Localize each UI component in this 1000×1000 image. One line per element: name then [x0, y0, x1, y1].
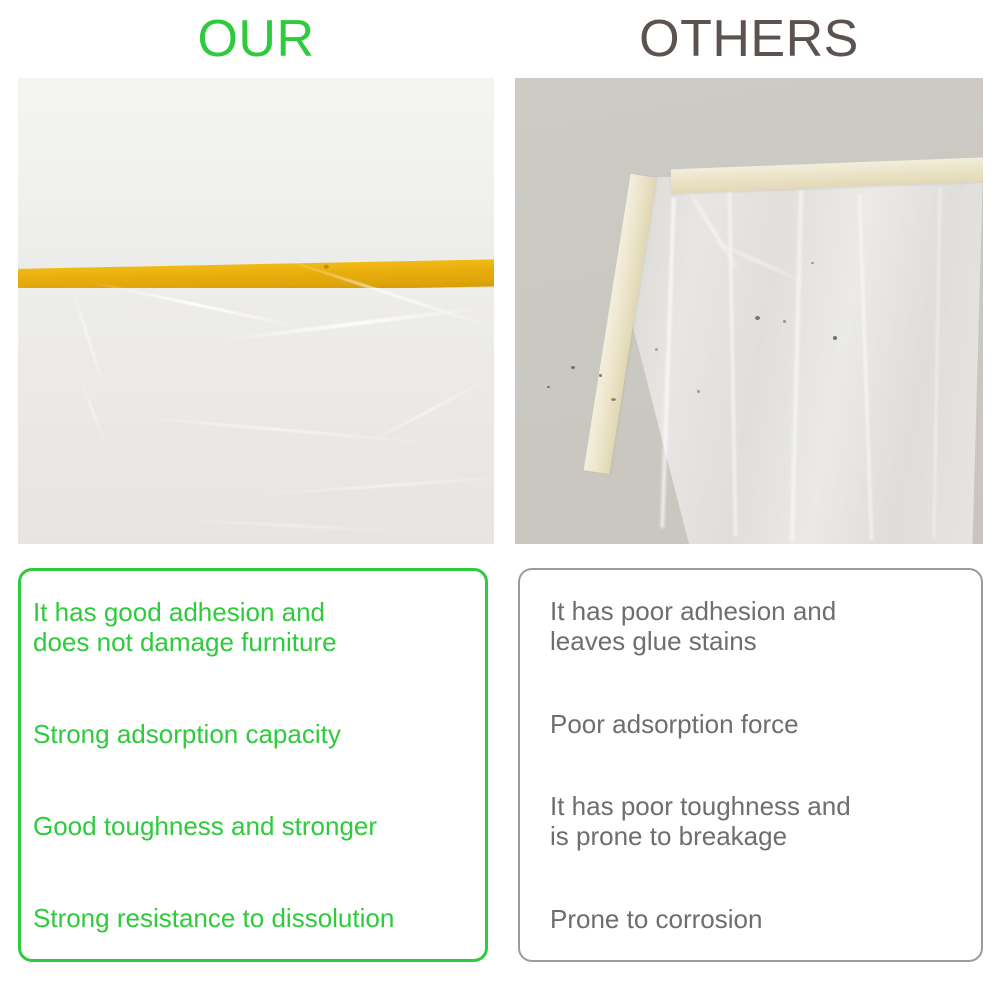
feature-item: It has poor toughness and is prone to br… [550, 791, 967, 851]
film-crease [68, 280, 108, 395]
film-crease [73, 367, 109, 452]
feature-item: Poor adsorption force [550, 709, 967, 739]
comparison-infographic: OUR It has good adhesion and does not da… [0, 0, 1000, 1000]
clear-protective-film [18, 288, 494, 544]
others-product-photo [515, 78, 983, 544]
film-crease [209, 304, 494, 343]
dirt-speck [655, 348, 658, 351]
film-crease [87, 280, 313, 331]
dirt-speck [611, 398, 616, 401]
feature-item: Prone to corrosion [550, 904, 967, 934]
film-crease [360, 371, 494, 449]
column-our: OUR It has good adhesion and does not da… [18, 0, 494, 1000]
our-feature-box: It has good adhesion and does not damage… [18, 568, 488, 962]
feature-item: It has poor adhesion and leaves glue sta… [550, 596, 967, 656]
dirt-speck [811, 262, 814, 264]
others-feature-box: It has poor adhesion and leaves glue sta… [518, 568, 983, 962]
feature-item: Strong adsorption capacity [33, 719, 471, 749]
dirt-speck [755, 316, 760, 320]
dirt-speck [783, 320, 786, 323]
feature-item: It has good adhesion and does not damage… [33, 597, 471, 657]
dirt-speck [697, 390, 700, 393]
dirt-speck [833, 336, 837, 340]
our-product-photo [18, 78, 494, 544]
column-others: OTHERS It has poor adhesion and le [515, 0, 983, 1000]
crumpled-plastic-film [633, 170, 983, 544]
feature-item: Strong resistance to dissolution [33, 903, 471, 933]
dirt-speck [571, 366, 575, 369]
heading-our: OUR [18, 4, 494, 74]
film-crease [161, 517, 421, 534]
dirt-speck [599, 374, 602, 377]
film-crease [237, 474, 494, 498]
white-board-surface [18, 78, 494, 276]
feature-item: Good toughness and stronger [33, 811, 471, 841]
heading-others: OTHERS [515, 4, 983, 74]
dirt-speck [547, 386, 550, 388]
